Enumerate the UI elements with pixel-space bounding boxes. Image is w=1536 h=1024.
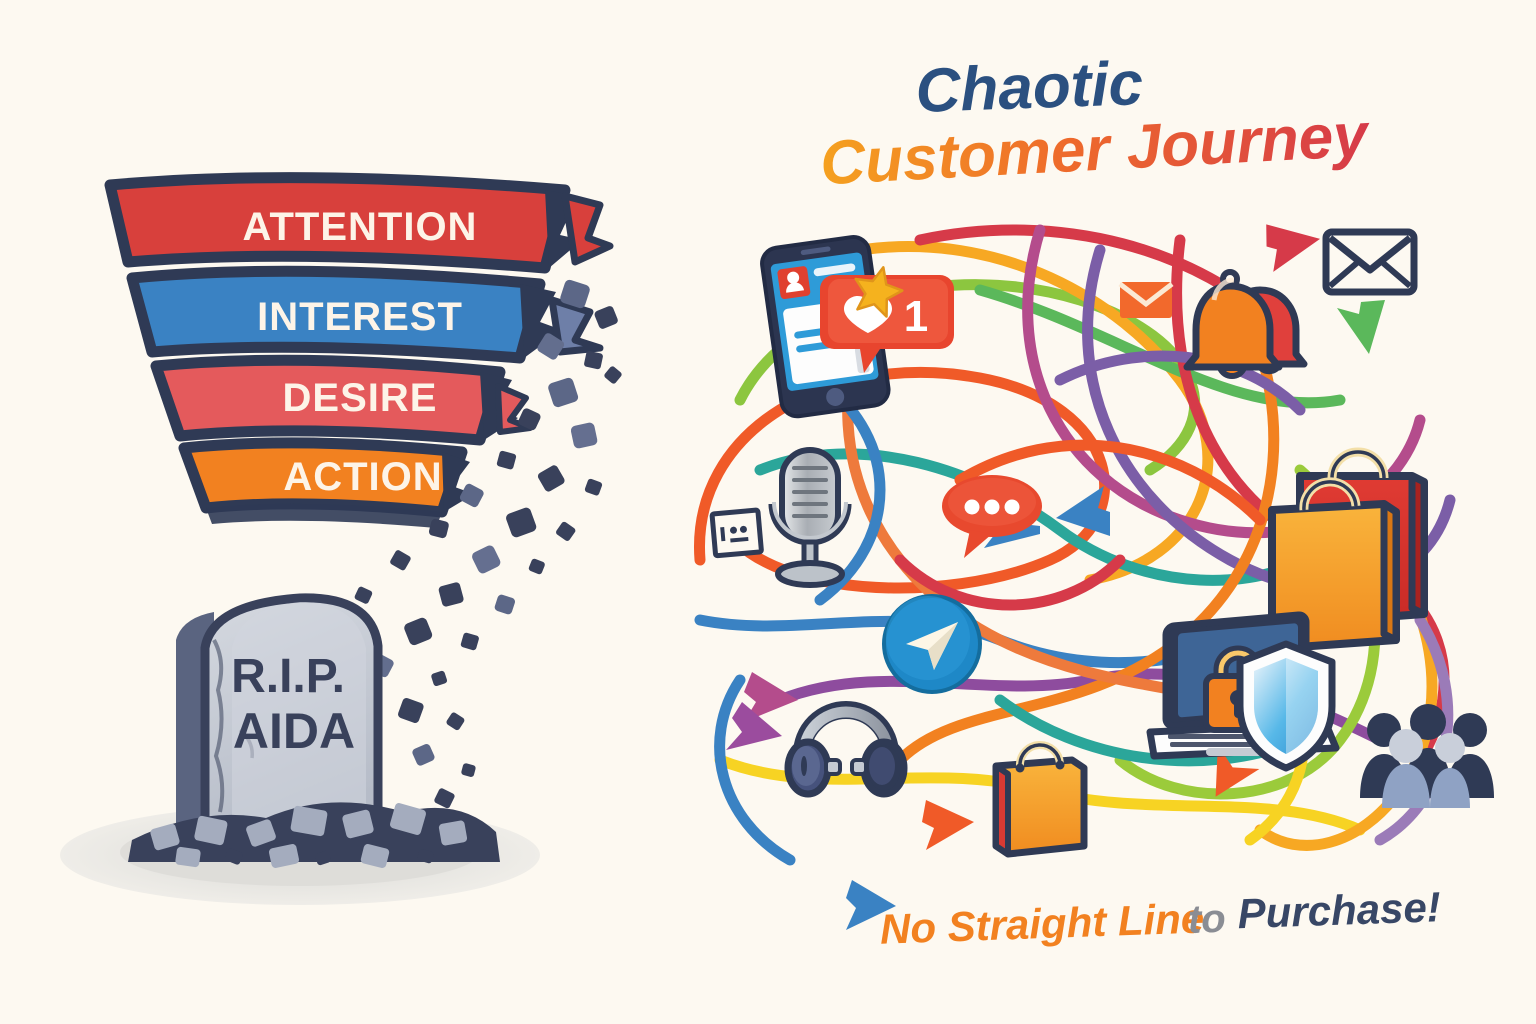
tombstone-line-1: R.I.P. [231, 650, 345, 703]
send-icon [884, 596, 980, 692]
people-group-icon [1360, 704, 1494, 808]
funnel-label-attention: ATTENTION [243, 205, 478, 249]
caption-part-2: to [1187, 897, 1226, 942]
funnel-label-desire: DESIRE [283, 376, 438, 420]
illustration-canvas: ATTENTION INTEREST DESIRE ACTION [0, 0, 1536, 1024]
funnel-label-action: ACTION [283, 455, 442, 499]
shield-icon [1240, 644, 1332, 768]
photo-frame-icon [712, 510, 761, 556]
caption-part-3: Purchase! [1237, 883, 1442, 937]
microphone-icon [772, 450, 848, 585]
tombstone-line-2: AIDA [233, 703, 355, 759]
like-count: 1 [904, 292, 928, 341]
envelope-outline-icon [1326, 232, 1414, 292]
title-word-journey: Journey [1125, 101, 1373, 183]
funnel-label-interest: INTEREST [257, 295, 463, 339]
scene-svg: ATTENTION INTEREST DESIRE ACTION [0, 0, 1536, 1024]
envelope-small-icon [1120, 282, 1172, 318]
